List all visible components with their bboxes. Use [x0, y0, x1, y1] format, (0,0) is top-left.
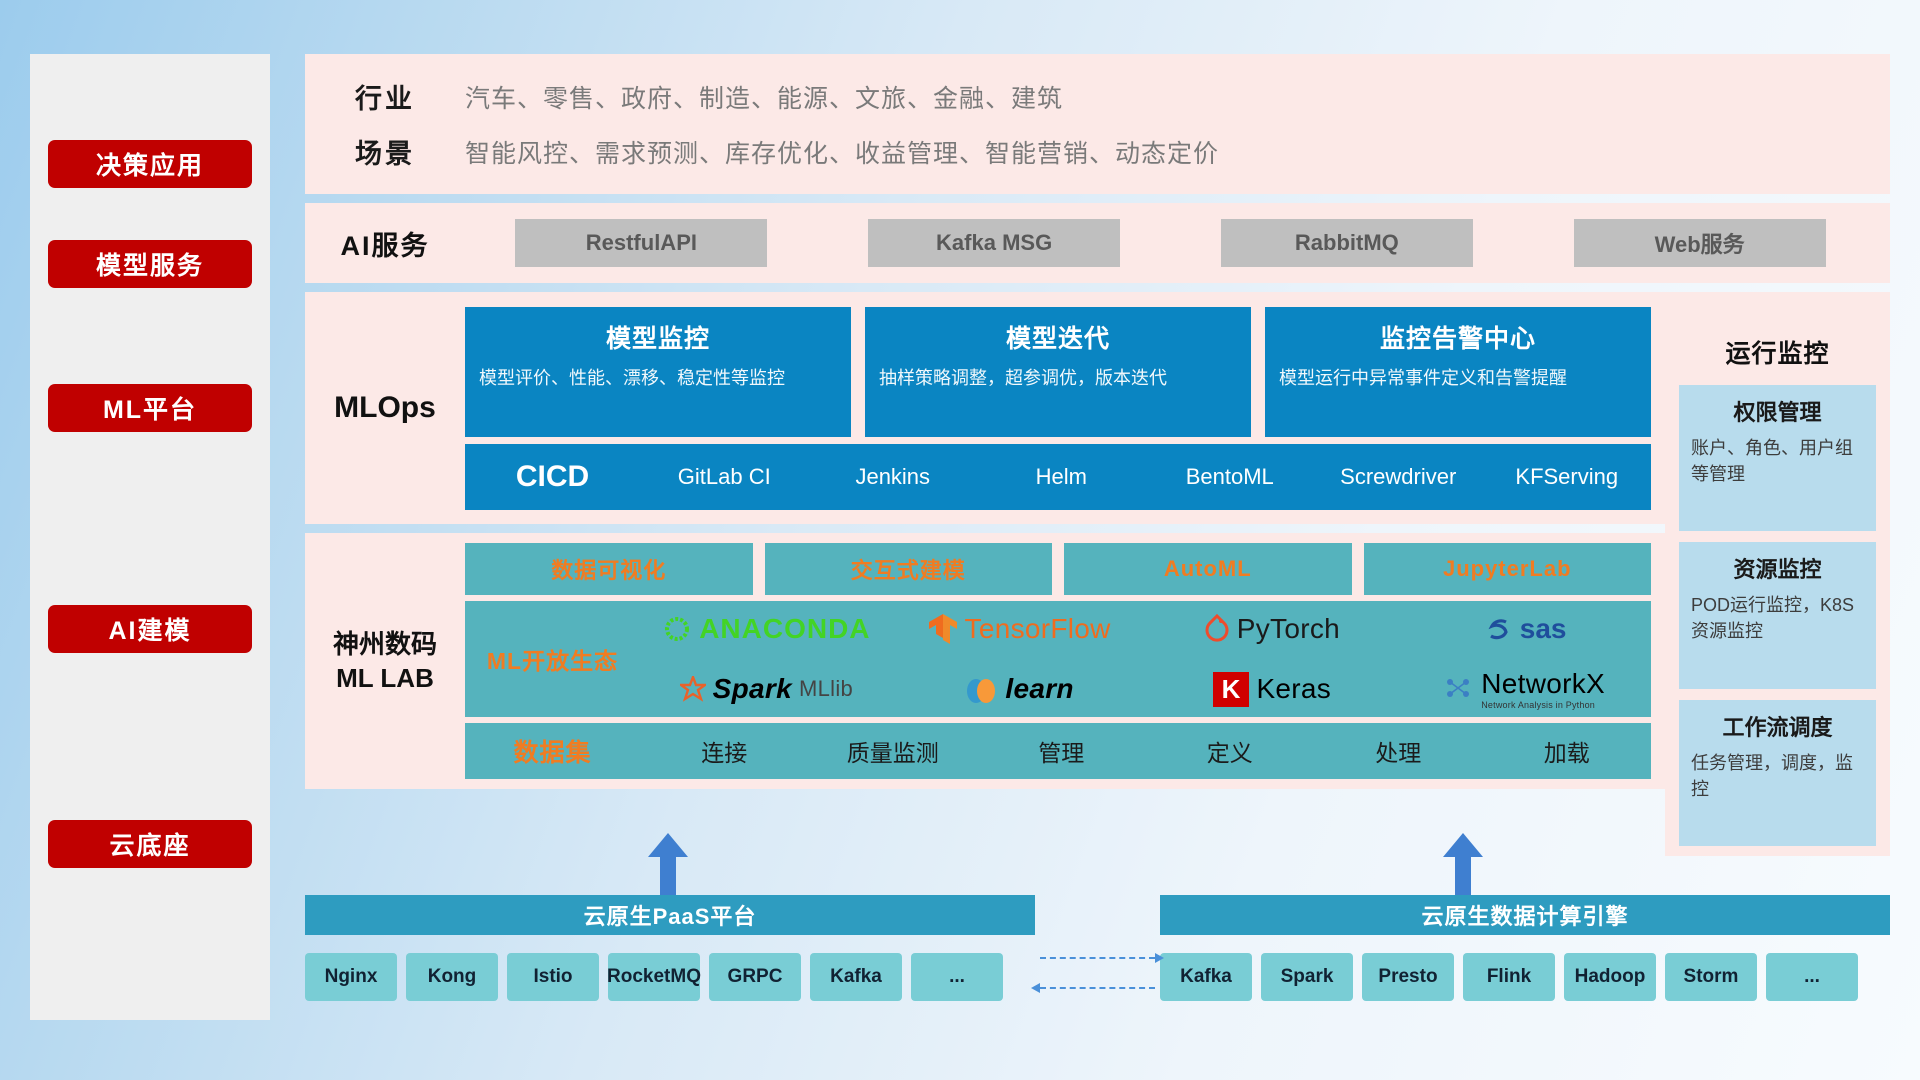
paas-chip[interactable]: Nginx — [305, 953, 397, 1001]
keras-text: Keras — [1256, 673, 1331, 705]
arrow-up-left-icon — [648, 833, 688, 857]
networkx-subtitle: Network Analysis in Python — [1481, 700, 1595, 710]
paas-chip[interactable]: RocketMQ — [608, 953, 700, 1001]
cicd-item[interactable]: Helm — [977, 465, 1146, 488]
tensorflow-logo: TensorFlow — [893, 601, 1146, 657]
layer-rail — [30, 54, 270, 1020]
scikit-learn-text: learn — [1005, 673, 1073, 705]
dataset-item[interactable]: 加载 — [1483, 734, 1652, 768]
anaconda-text: ANACONDA — [699, 613, 870, 645]
main-column: 行业 汽车、零售、政府、制造、能源、文旅、金融、建筑 场景 智能风控、需求预测、… — [305, 54, 1890, 798]
tensorflow-text: TensorFlow — [965, 613, 1111, 645]
scikit-learn-icon — [964, 672, 998, 706]
sas-icon — [1483, 614, 1513, 644]
paas-chip[interactable]: ... — [911, 953, 1003, 1001]
cicd-label: CICD — [465, 460, 640, 494]
ai-service-label: AI服务 — [305, 224, 465, 263]
ai-service-chip[interactable]: RestfulAPI — [515, 219, 767, 267]
engine-chip[interactable]: Flink — [1463, 953, 1555, 1001]
monitoring-card-permissions[interactable]: 权限管理 账户、角色、用户组等管理 — [1679, 385, 1876, 531]
industry-values: 汽车、零售、政府、制造、能源、文旅、金融、建筑 — [465, 79, 1063, 115]
monitoring-card-desc: POD运行监控，K8S资源监控 — [1691, 592, 1864, 644]
connector-arrow-left — [1040, 987, 1155, 989]
diagram-canvas: 决策应用 模型服务 ML平台 AI建模 云底座 行业 汽车、零售、政府、制造、能… — [0, 0, 1920, 1080]
paas-chip[interactable]: Kong — [406, 953, 498, 1001]
monitoring-card-desc: 任务管理，调度，监控 — [1691, 750, 1864, 802]
rail-item-ai-modeling[interactable]: AI建模 — [48, 605, 252, 653]
ai-service-chip[interactable]: RabbitMQ — [1221, 219, 1473, 267]
cicd-item[interactable]: Screwdriver — [1314, 465, 1483, 488]
mlops-band: MLOps 模型监控 模型评价、性能、漂移、稳定性等监控 模型迭代 抽样策略调整… — [305, 292, 1890, 524]
monitoring-card-title: 资源监控 — [1691, 552, 1864, 584]
rail-item-ml-platform[interactable]: ML平台 — [48, 384, 252, 432]
engine-chip[interactable]: Storm — [1665, 953, 1757, 1001]
monitoring-card-workflow[interactable]: 工作流调度 任务管理，调度，监控 — [1679, 700, 1876, 846]
rail-label: 决策应用 — [96, 146, 204, 182]
monitoring-card-title: 权限管理 — [1691, 395, 1864, 427]
monitoring-column: 运行监控 权限管理 账户、角色、用户组等管理 资源监控 POD运行监控，K8S资… — [1665, 316, 1890, 856]
pytorch-text: PyTorch — [1237, 613, 1340, 645]
tensorflow-icon — [928, 612, 958, 646]
pytorch-icon — [1204, 614, 1230, 644]
paas-chip[interactable]: Istio — [507, 953, 599, 1001]
anaconda-icon — [662, 614, 692, 644]
mlops-card-desc: 模型评价、性能、漂移、稳定性等监控 — [479, 365, 837, 391]
cloud-section: 云原生PaaS平台 Nginx Kong Istio RocketMQ GRPC… — [305, 895, 1890, 1045]
mlops-card[interactable]: 模型迭代 抽样策略调整，超参调优，版本迭代 — [865, 307, 1251, 437]
dataset-item[interactable]: 处理 — [1314, 734, 1483, 768]
paas-chip[interactable]: GRPC — [709, 953, 801, 1001]
pytorch-logo: PyTorch — [1146, 601, 1399, 657]
ml-ecosystem-row: ML开放生态 ANACONDA — [465, 601, 1651, 717]
ai-service-chip[interactable]: Web服务 — [1574, 219, 1826, 267]
sas-logo: sas — [1398, 601, 1651, 657]
rail-label: AI建模 — [108, 611, 191, 647]
networkx-text: NetworkX — [1481, 668, 1605, 700]
mlops-card-title: 监控告警中心 — [1380, 319, 1536, 355]
engine-chip[interactable]: Kafka — [1160, 953, 1252, 1001]
monitoring-card-resources[interactable]: 资源监控 POD运行监控，K8S资源监控 — [1679, 542, 1876, 688]
rail-item-decision[interactable]: 决策应用 — [48, 140, 252, 188]
mlops-card-desc: 模型运行中异常事件定义和告警提醒 — [1279, 365, 1637, 391]
lab-tab[interactable]: 交互式建模 — [765, 543, 1053, 595]
keras-logo: K Keras — [1146, 661, 1399, 717]
engine-chip[interactable]: ... — [1766, 953, 1858, 1001]
monitoring-card-desc: 账户、角色、用户组等管理 — [1691, 435, 1864, 487]
spark-star-icon — [680, 676, 706, 702]
scenario-values: 智能风控、需求预测、库存优化、收益管理、智能营销、动态定价 — [465, 134, 1219, 170]
paas-chip[interactable]: Kafka — [810, 953, 902, 1001]
mlops-card-desc: 抽样策略调整，超参调优，版本迭代 — [879, 365, 1237, 391]
paas-bar: 云原生PaaS平台 — [305, 895, 1035, 935]
ml-ecosystem-label: ML开放生态 — [465, 642, 640, 676]
monitoring-card-title: 工作流调度 — [1691, 710, 1864, 742]
engine-chip[interactable]: Presto — [1362, 953, 1454, 1001]
ml-lab-band: 神州数码 ML LAB 数据可视化 交互式建模 AutoML JupyterLa… — [305, 533, 1890, 789]
rail-item-cloud-base[interactable]: 云底座 — [48, 820, 252, 868]
ml-lab-label-line1: 神州数码 — [333, 627, 437, 661]
dataset-item[interactable]: 管理 — [977, 734, 1146, 768]
cicd-item[interactable]: BentoML — [1146, 465, 1315, 488]
rail-label: 云底座 — [109, 826, 190, 862]
cicd-item[interactable]: GitLab CI — [640, 465, 809, 488]
monitoring-title: 运行监控 — [1679, 326, 1876, 374]
dataset-item[interactable]: 质量监测 — [809, 734, 978, 768]
cicd-item[interactable]: Jenkins — [809, 465, 978, 488]
ml-lab-label-line2: ML LAB — [336, 661, 434, 695]
rail-label: ML平台 — [103, 390, 197, 426]
scenario-row: 场景 智能风控、需求预测、库存优化、收益管理、智能营销、动态定价 — [305, 132, 1890, 171]
industry-band: 行业 汽车、零售、政府、制造、能源、文旅、金融、建筑 场景 智能风控、需求预测、… — [305, 54, 1890, 194]
paas-group: 云原生PaaS平台 Nginx Kong Istio RocketMQ GRPC… — [305, 895, 1035, 1001]
networkx-icon — [1444, 676, 1474, 702]
dataset-row: 数据集 连接 质量监测 管理 定义 处理 加载 — [465, 723, 1651, 779]
industry-row: 行业 汽车、零售、政府、制造、能源、文旅、金融、建筑 — [305, 77, 1890, 116]
engine-chip[interactable]: Hadoop — [1564, 953, 1656, 1001]
mlops-card[interactable]: 模型监控 模型评价、性能、漂移、稳定性等监控 — [465, 307, 851, 437]
scikit-learn-logo: learn — [893, 661, 1146, 717]
ai-service-band: AI服务 RestfulAPI Kafka MSG RabbitMQ Web服务 — [305, 203, 1890, 283]
dataset-item[interactable]: 定义 — [1146, 734, 1315, 768]
lab-tab[interactable]: JupyterLab — [1364, 543, 1652, 595]
arrow-stem-right — [1455, 853, 1471, 895]
mlops-card-title: 模型监控 — [606, 319, 710, 355]
mllib-text: MLlib — [799, 676, 853, 702]
networkx-logo: NetworkX Network Analysis in Python — [1398, 661, 1651, 717]
arrow-up-right-icon — [1443, 833, 1483, 857]
dataset-item[interactable]: 连接 — [640, 734, 809, 768]
data-engine-group: 云原生数据计算引擎 Kafka Spark Presto Flink Hadoo… — [1160, 895, 1890, 1001]
rail-item-model-service[interactable]: 模型服务 — [48, 240, 252, 288]
data-engine-bar: 云原生数据计算引擎 — [1160, 895, 1890, 935]
engine-chip[interactable]: Spark — [1261, 953, 1353, 1001]
connector-arrow-right — [1040, 957, 1155, 959]
spark-text: Spark — [713, 673, 792, 705]
keras-mark-icon: K — [1213, 672, 1250, 707]
mlops-card-title: 模型迭代 — [1006, 319, 1110, 355]
sas-text: sas — [1520, 613, 1567, 645]
dataset-label: 数据集 — [465, 733, 640, 769]
arrow-stem-left — [660, 853, 676, 895]
rail-label: 模型服务 — [96, 246, 204, 282]
ml-lab-label: 神州数码 ML LAB — [305, 627, 465, 696]
lab-tab[interactable]: AutoML — [1064, 543, 1352, 595]
industry-label: 行业 — [305, 77, 465, 116]
spark-mllib-logo: Spark MLlib — [640, 661, 893, 717]
lab-tab[interactable]: 数据可视化 — [465, 543, 753, 595]
scenario-label: 场景 — [305, 132, 465, 171]
cicd-row: CICD GitLab CI Jenkins Helm BentoML Scre… — [465, 444, 1651, 510]
anaconda-logo: ANACONDA — [640, 601, 893, 657]
ai-service-chip[interactable]: Kafka MSG — [868, 219, 1120, 267]
mlops-card[interactable]: 监控告警中心 模型运行中异常事件定义和告警提醒 — [1265, 307, 1651, 437]
mlops-label: MLOps — [305, 391, 465, 425]
cicd-item[interactable]: KFServing — [1483, 465, 1652, 488]
